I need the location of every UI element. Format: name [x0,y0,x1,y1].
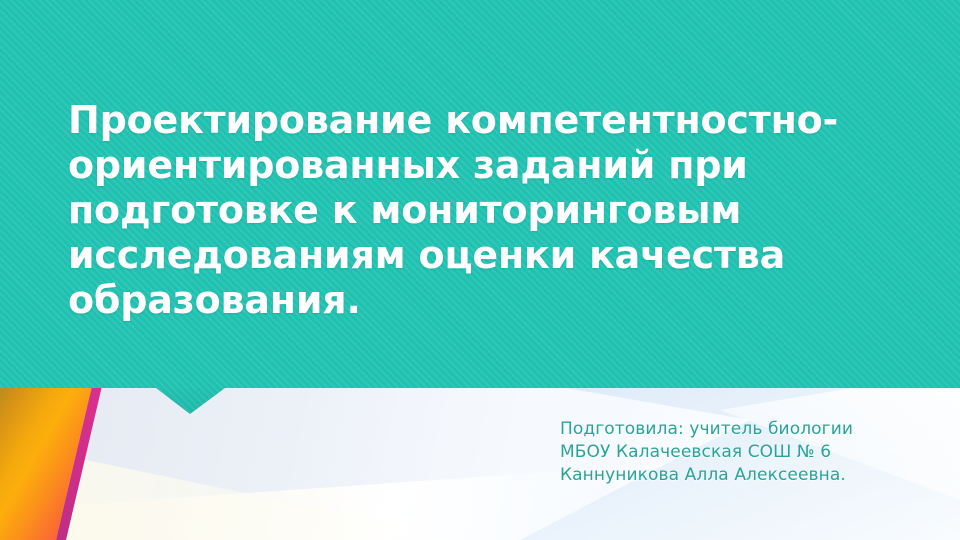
slide-subtitle-line-1: Подготовила: учитель биологии [560,418,950,441]
slide-subtitle-line-3: Каннуникова Алла Алексеевна. [560,464,950,487]
presentation-slide: Проектирование компетентностно- ориентир… [0,0,960,540]
slide-title-line-3: подготовке к мониторинговым [68,188,888,233]
slide-subtitle: Подготовила: учитель биологии МБОУ Калач… [560,418,950,487]
slide-title-line-2: ориентированных заданий при [68,143,888,188]
slide-title-line-1: Проектирование компетентностно- [68,98,888,143]
slide-title: Проектирование компетентностно- ориентир… [68,98,888,323]
slide-title-line-4: исследованиям оценки качества [68,233,888,278]
slide-subtitle-line-2: МБОУ Калачеевская СОШ № 6 [560,441,950,464]
slide-title-line-5: образования. [68,278,888,323]
